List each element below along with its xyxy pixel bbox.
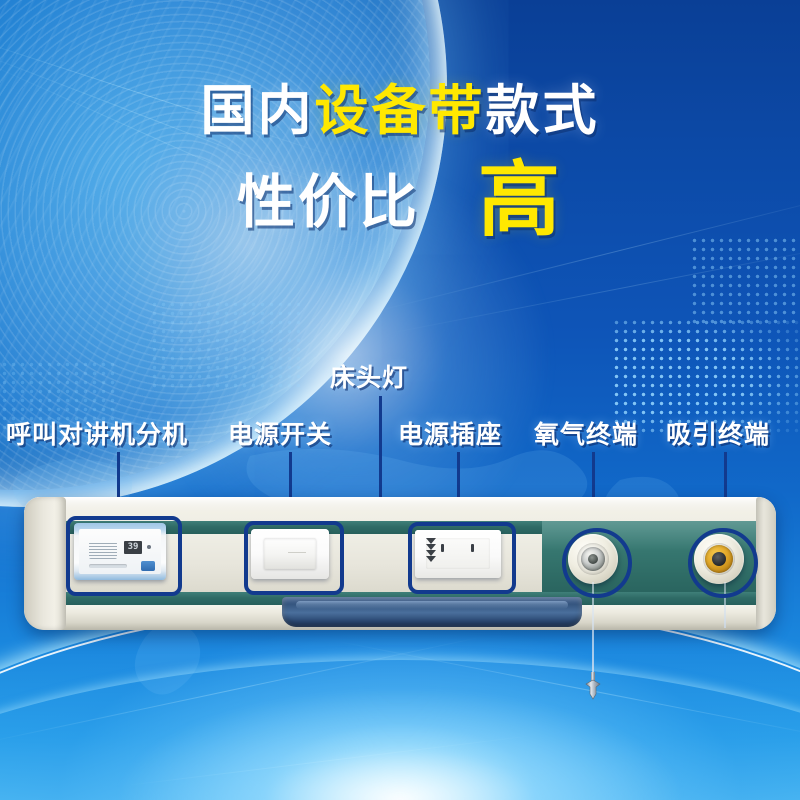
headline-line2-prefix: 性价比 [237, 168, 420, 236]
bedside-lamp-sheen [296, 601, 568, 609]
headline-line1-prefix: 国内 [201, 79, 315, 142]
headline-line1-suffix: 款式 [486, 79, 600, 142]
callout-label-oxygen-outlet: 氧气终端 [534, 415, 638, 451]
highlight-power-socket [408, 522, 516, 594]
callout-label-nurse-intercom: 呼叫对讲机分机 [6, 415, 188, 451]
headline-line-1: 国内设备带款式 [0, 84, 800, 138]
rail-end-cap-right [756, 497, 776, 630]
halftone-dot-pattern-upper [690, 236, 800, 328]
metal-cross-fitting-icon [584, 672, 602, 700]
highlight-nurse-intercom [66, 516, 182, 596]
rail-top-highlight [24, 497, 776, 511]
headline-line2-highlight: 高 [478, 153, 563, 248]
callout-label-bedside-lamp: 床头灯 [330, 358, 408, 394]
halftone-dot-pattern-left [150, 300, 300, 390]
promo-banner: 国内设备带款式 性价比高 床头灯 呼叫对讲机分机 电源开关 电源插座 氧气终端 … [0, 0, 800, 800]
highlight-oxygen-outlet [562, 528, 632, 598]
headline-line-2: 性价比高 [0, 160, 800, 242]
callout-label-power-socket: 电源插座 [398, 415, 502, 451]
highlight-suction-outlet [688, 528, 758, 598]
highlight-power-switch [244, 521, 344, 595]
callout-label-suction-outlet: 吸引终端 [666, 415, 770, 451]
headline-line1-highlight: 设备带 [315, 79, 486, 142]
callout-label-power-switch: 电源开关 [228, 415, 332, 451]
rail-end-cap-left [24, 497, 66, 630]
